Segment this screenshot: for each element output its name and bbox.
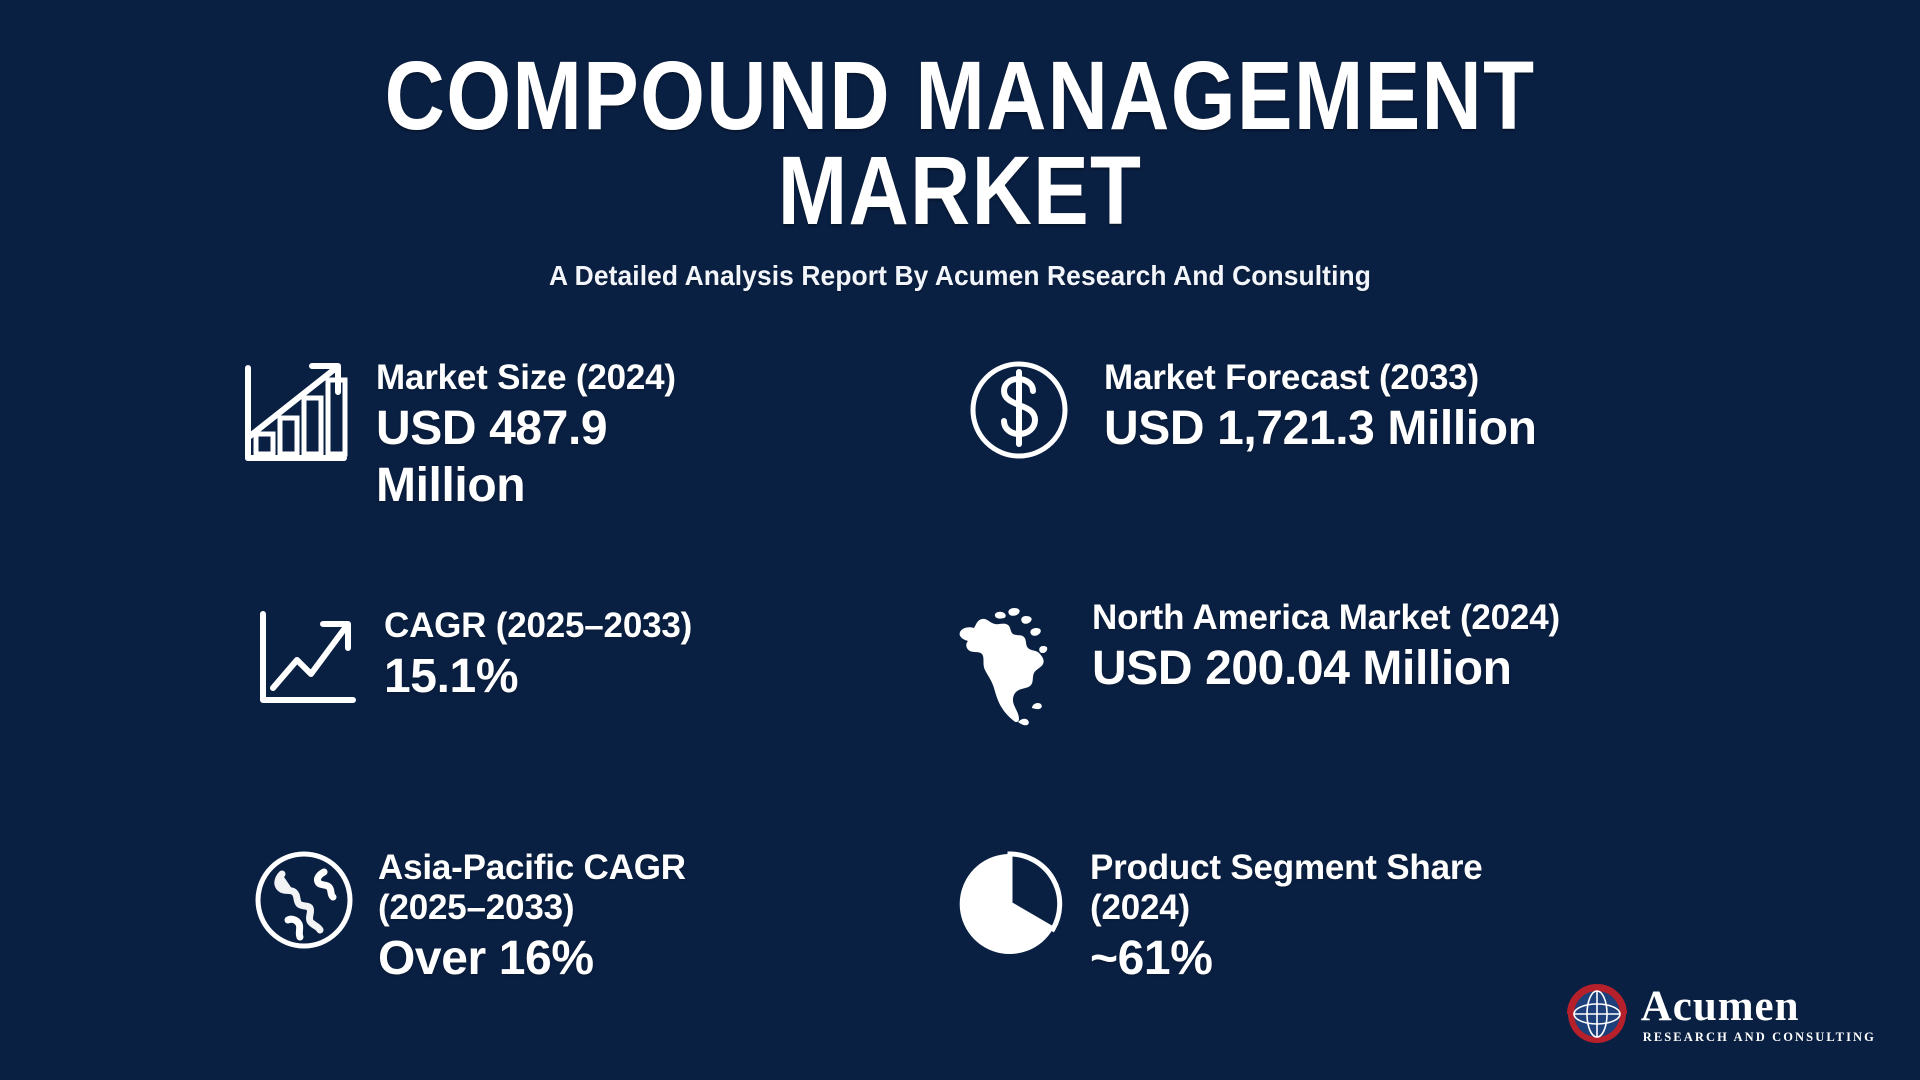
stat-label: Product Segment Share (2024) — [1090, 848, 1510, 928]
page-title-line-2: MARKET — [134, 143, 1785, 238]
logo-text: Acumen RESEARCH AND CONSULTING — [1641, 985, 1876, 1044]
stats-grid: Market Size (2024) USD 487.9 Million Mar… — [0, 352, 1920, 1058]
stat-value: 15.1% — [384, 648, 692, 706]
globe-logo-icon — [1565, 982, 1629, 1046]
logo-name: Acumen — [1641, 985, 1876, 1028]
stat-value: USD 1,721.3 Million — [1104, 400, 1537, 458]
stat-text-market-forecast: Market Forecast (2033) USD 1,721.3 Milli… — [1104, 358, 1537, 457]
stat-value: ~61% — [1090, 930, 1510, 988]
infographic-canvas: COMPOUND MANAGEMENT MARKET A Detailed An… — [0, 0, 1920, 1080]
stat-card-market-forecast: Market Forecast (2033) USD 1,721.3 Milli… — [760, 352, 1920, 590]
globe-icon — [248, 848, 360, 952]
page-subtitle: A Detailed Analysis Report By Acumen Res… — [38, 260, 1881, 292]
stat-text-north-america: North America Market (2024) USD 200.04 M… — [1092, 598, 1560, 697]
dollar-circle-icon — [960, 358, 1078, 462]
stat-label: Asia-Pacific CAGR (2025–2033) — [378, 848, 760, 928]
bar-chart-growth-icon — [236, 358, 354, 466]
pie-chart-icon — [950, 848, 1070, 960]
logo-tagline: RESEARCH AND CONSULTING — [1641, 1031, 1876, 1044]
stat-card-market-size: Market Size (2024) USD 487.9 Million — [0, 352, 760, 590]
stat-card-cagr: CAGR (2025–2033) 15.1% — [0, 590, 760, 828]
stat-card-north-america: North America Market (2024) USD 200.04 M… — [760, 590, 1920, 828]
page-title-line-1: COMPOUND MANAGEMENT — [134, 48, 1785, 143]
stat-label: CAGR (2025–2033) — [384, 606, 692, 646]
stat-value: Over 16% — [378, 930, 760, 988]
page-title: COMPOUND MANAGEMENT MARKET — [134, 48, 1785, 238]
stat-value: USD 487.9 Million — [376, 400, 760, 515]
line-chart-axes-icon — [250, 606, 362, 710]
acumen-logo: Acumen RESEARCH AND CONSULTING — [1565, 982, 1876, 1046]
stat-text-asia-pacific-cagr: Asia-Pacific CAGR (2025–2033) Over 16% — [378, 848, 760, 987]
stat-text-product-segment-share: Product Segment Share (2024) ~61% — [1090, 848, 1510, 987]
stat-value: USD 200.04 Million — [1092, 640, 1560, 698]
stat-card-asia-pacific-cagr: Asia-Pacific CAGR (2025–2033) Over 16% — [0, 828, 760, 1058]
stat-label: Market Size (2024) — [376, 358, 760, 398]
stat-text-cagr: CAGR (2025–2033) 15.1% — [384, 606, 692, 705]
header: COMPOUND MANAGEMENT MARKET A Detailed An… — [0, 48, 1920, 292]
stat-label: North America Market (2024) — [1092, 598, 1560, 638]
stat-label: Market Forecast (2033) — [1104, 358, 1537, 398]
stat-text-market-size: Market Size (2024) USD 487.9 Million — [376, 358, 760, 515]
north-america-map-icon — [940, 598, 1072, 728]
